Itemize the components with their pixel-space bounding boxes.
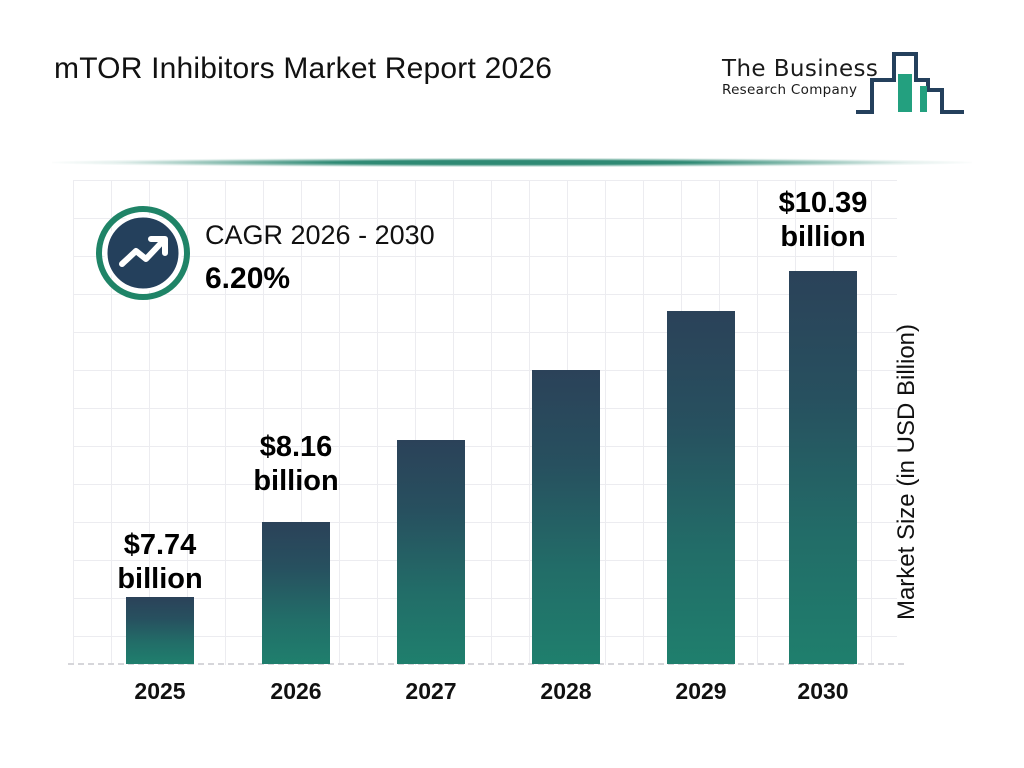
trending-up-arrow-icon <box>96 206 190 300</box>
y-axis-label-text: Market Size (in USD Billion) <box>893 272 921 672</box>
x-tick-2025: 2025 <box>100 678 220 705</box>
value-label-2025-unit: billion <box>75 562 245 596</box>
bar-2025 <box>126 597 194 664</box>
cagr-text-block: CAGR 2026 - 2030 6.20% <box>205 218 435 300</box>
x-tick-2029: 2029 <box>641 678 761 705</box>
y-axis-label: Market Size (in USD Billion) <box>893 0 921 272</box>
chart-page: mTOR Inhibitors Market Report 2026 The B… <box>0 0 1024 768</box>
value-label-2030: $10.39 billion <box>738 186 908 254</box>
bar-2029 <box>667 311 735 664</box>
value-label-2026-amount: $8.16 <box>211 430 381 464</box>
value-label-2030-unit: billion <box>738 220 908 254</box>
value-label-2026-unit: billion <box>211 464 381 498</box>
cagr-label: CAGR 2026 - 2030 <box>205 218 435 252</box>
bar-2026 <box>262 522 330 664</box>
value-label-2026: $8.16 billion <box>211 430 381 498</box>
cagr-badge <box>96 206 190 300</box>
bar-2027 <box>397 440 465 664</box>
value-label-2025: $7.74 billion <box>75 528 245 596</box>
bar-2028 <box>532 370 600 664</box>
bar-2030 <box>789 271 857 664</box>
value-label-2030-amount: $10.39 <box>738 186 908 220</box>
cagr-value: 6.20% <box>205 258 435 300</box>
x-tick-2027: 2027 <box>371 678 491 705</box>
x-tick-2030: 2030 <box>763 678 883 705</box>
x-tick-2028: 2028 <box>506 678 626 705</box>
value-label-2025-amount: $7.74 <box>75 528 245 562</box>
x-tick-2026: 2026 <box>236 678 356 705</box>
